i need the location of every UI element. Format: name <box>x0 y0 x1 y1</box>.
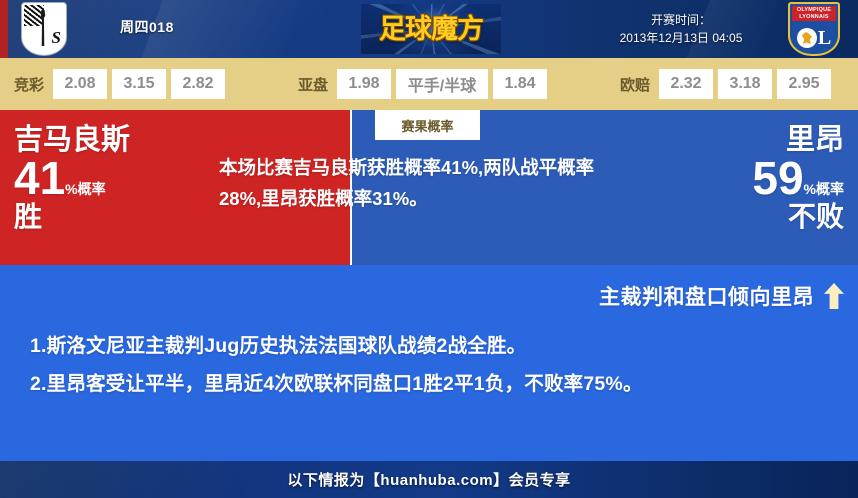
home-team-name: 吉马良斯 <box>14 126 130 155</box>
away-team-badge: OLYMPIQUE LYONNAIS L <box>788 2 840 56</box>
arrow-up-icon <box>824 283 844 309</box>
odds-group-oupei: 欧赔 2.32 3.18 2.95 <box>620 69 836 99</box>
list-item: 1.斯洛文尼亚主裁判Jug历史执法法国球队战绩2战全胜。 <box>30 327 836 365</box>
home-probability-value-row: 41%概率 <box>14 157 130 201</box>
away-probability-unit: %概率 <box>804 181 844 197</box>
odds-group-jingcai: 竞彩 2.08 3.15 2.82 <box>14 69 230 99</box>
footer-bar: 以下情报为【huanhuba.com】会员专享 <box>0 461 858 498</box>
home-probability-unit: %概率 <box>65 181 105 197</box>
site-logo-text: 足球魔方 <box>379 16 483 43</box>
kickoff-value: 2013年12月13日 04:05 <box>596 29 766 47</box>
home-probability-stat: 吉马良斯 41%概率 胜 <box>14 126 130 231</box>
lyon-badge-monogram: L <box>790 22 838 54</box>
infographic-page: S 周四018 足球魔方 开赛时间： 2013年12月13日 04:05 OLY… <box>0 0 858 498</box>
odds-cell[interactable]: 3.18 <box>718 69 772 99</box>
home-probability-result: 胜 <box>14 203 130 231</box>
match-header: S 周四018 足球魔方 开赛时间： 2013年12月13日 04:05 OLY… <box>0 0 858 58</box>
away-probability-stat: 里昂 59%概率 不败 <box>752 126 844 231</box>
home-probability-value: 41 <box>14 152 65 204</box>
kickoff-label: 开赛时间： <box>596 11 766 29</box>
odds-cell[interactable]: 2.32 <box>659 69 713 99</box>
site-logo[interactable]: 足球魔方 <box>361 4 501 54</box>
kickoff-time-block: 开赛时间： 2013年12月13日 04:05 <box>596 11 766 47</box>
odds-group-yapan: 亚盘 1.98 平手/半球 1.84 <box>298 69 552 99</box>
analysis-headline-row: 主裁判和盘口倾向里昂 <box>599 281 844 311</box>
odds-cell[interactable]: 1.84 <box>493 69 547 99</box>
analysis-section: 主裁判和盘口倾向里昂 1.斯洛文尼亚主裁判Jug历史执法法国球队战绩2战全胜。 … <box>0 265 858 461</box>
away-team-name: 里昂 <box>752 126 844 155</box>
odds-cell[interactable]: 2.08 <box>53 69 107 99</box>
footer-text: 以下情报为【huanhuba.com】会员专享 <box>287 469 570 490</box>
analysis-headline: 主裁判和盘口倾向里昂 <box>599 281 814 311</box>
guimaraes-shield-icon: S <box>22 3 66 55</box>
shield-monogram: S <box>52 29 61 46</box>
odds-cell[interactable]: 2.95 <box>777 69 831 99</box>
home-team-badge: S <box>22 3 66 55</box>
odds-cell[interactable]: 1.98 <box>337 69 391 99</box>
probability-summary-text: 本场比赛吉马良斯获胜概率41%,两队战平概率28%,里昂获胜概率31%。 <box>219 152 629 214</box>
away-probability-value-row: 59%概率 <box>752 157 844 201</box>
lyon-lion-icon <box>797 28 817 48</box>
odds-group-label: 亚盘 <box>298 74 328 95</box>
lyon-shield-icon: OLYMPIQUE LYONNAIS L <box>788 2 840 56</box>
odds-group-label: 欧赔 <box>620 74 650 95</box>
away-probability-value: 59 <box>752 152 803 204</box>
away-probability-result: 不败 <box>752 203 844 231</box>
probability-section: 吉马良斯 41%概率 胜 里昂 59%概率 不败 赛果概率 本场比赛吉马良斯获胜… <box>0 110 858 265</box>
odds-bar: 竞彩 2.08 3.15 2.82 亚盘 1.98 平手/半球 1.84 欧赔 … <box>0 58 858 110</box>
list-item: 2.里昂客受让平半，里昂近4次欧联杯同盘口1胜2平1负，不败率75%。 <box>30 365 836 403</box>
odds-cell-handicap[interactable]: 平手/半球 <box>396 69 488 99</box>
analysis-list: 1.斯洛文尼亚主裁判Jug历史执法法国球队战绩2战全胜。 2.里昂客受让平半，里… <box>30 327 836 403</box>
odds-cell[interactable]: 2.82 <box>171 69 225 99</box>
match-number: 周四018 <box>120 17 174 37</box>
lyon-badge-wordmark: OLYMPIQUE LYONNAIS <box>792 6 836 21</box>
odds-cell[interactable]: 3.15 <box>112 69 166 99</box>
lyon-wordmark-line1: OLYMPIQUE <box>792 7 836 14</box>
lyon-letter-l: L <box>818 28 831 48</box>
odds-group-label: 竞彩 <box>14 74 44 95</box>
lyon-wordmark-line2: LYONNAIS <box>792 14 836 21</box>
tab-result-probability[interactable]: 赛果概率 <box>375 110 480 140</box>
